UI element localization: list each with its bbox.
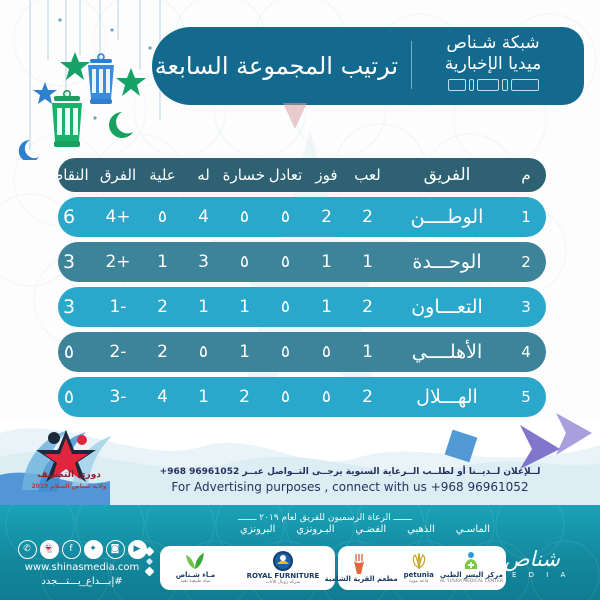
sponsor-name: مطعم القرية الشامية bbox=[325, 575, 398, 583]
social-icons: ✆ 👻 f ✦ ◙ ▶ bbox=[12, 540, 152, 559]
tier-silver: الفضـي bbox=[355, 524, 386, 535]
whatsapp-icon[interactable]: ✆ bbox=[18, 540, 37, 559]
tier-gold: الذهبي bbox=[407, 524, 435, 535]
cell-goal-diff: +2 bbox=[94, 252, 142, 272]
brand-line-2: ميديا الإخبارية bbox=[418, 54, 568, 75]
media-logo: شناص M E D I A bbox=[478, 548, 586, 580]
cell-goals-against: 4 bbox=[142, 387, 183, 407]
cell-draw: ٥ bbox=[265, 387, 306, 407]
sponsor-subtitle: شركة رويال للأثاث bbox=[266, 580, 301, 586]
column-header-played: لعب bbox=[347, 166, 388, 184]
table-row[interactable]: 1 الوطــــن 2 2 ٥ ٥ 4 ٥ +4 6 bbox=[58, 197, 546, 237]
tier-diamond: الماسـي bbox=[456, 524, 490, 535]
cell-loss: 2 bbox=[224, 387, 265, 407]
cell-played: 1 bbox=[347, 252, 388, 272]
cell-win: 2 bbox=[306, 207, 347, 227]
brand-decorative-marks bbox=[418, 79, 568, 91]
cell-goals-for: 3 bbox=[183, 252, 224, 272]
cell-team: الوطــــن bbox=[388, 206, 506, 228]
advert-english: For Advertising purposes , connect with … bbox=[150, 479, 550, 495]
column-header-loss: خسارة bbox=[224, 166, 265, 184]
cell-win: ٥ bbox=[306, 342, 347, 362]
cell-points: ٥ bbox=[44, 341, 94, 363]
poster-root: شبكة شـناص ميديا الإخبارية ترتيب المجموع… bbox=[0, 0, 600, 600]
column-header-rank: م bbox=[506, 166, 546, 184]
cell-goal-diff: -2 bbox=[94, 342, 142, 362]
cell-team: الأهلــــي bbox=[388, 341, 506, 363]
cell-points: 6 bbox=[44, 206, 94, 228]
cell-rank: 3 bbox=[506, 298, 546, 316]
cell-goal-diff: +4 bbox=[94, 207, 142, 227]
column-header-goals-against: علية bbox=[142, 166, 183, 184]
league-logo-subtitle: ولاية شناص السلام 2019 bbox=[14, 481, 124, 492]
twitter-icon[interactable]: ✦ bbox=[84, 540, 103, 559]
cell-draw: ٥ bbox=[265, 252, 306, 272]
cell-rank: 1 bbox=[506, 208, 546, 226]
column-header-win: فوز bbox=[306, 166, 347, 184]
media-logo-script: شناص bbox=[478, 548, 586, 570]
cell-points: 3 bbox=[44, 251, 94, 273]
tier-bronze-2: البرونزي bbox=[240, 524, 275, 535]
royal-furniture-icon bbox=[272, 550, 294, 572]
league-logo-title: دوري التصنيف bbox=[14, 470, 124, 481]
sponsor-name: مـاء شـناص bbox=[176, 571, 216, 579]
youtube-icon[interactable]: ▶ bbox=[128, 540, 147, 559]
sponsor-logo-maa-shinas[interactable]: مـاء شـناص مياه طبيعية نقية bbox=[173, 551, 219, 585]
header-pointer-decoration bbox=[283, 103, 307, 129]
tier-bronze: البـرونزي bbox=[296, 524, 334, 535]
cell-played: 2 bbox=[347, 387, 388, 407]
cell-win: ٥ bbox=[306, 387, 347, 407]
sponsor-tiers: الماسـي الذهبي الفضـي البـرونزي البرونزي bbox=[240, 524, 490, 535]
sponsors-title: ـــــــ الرعاة الرسميون للفريق لعام ٢٠١٩… bbox=[185, 512, 465, 524]
column-header-draw: تعادل bbox=[265, 166, 306, 184]
sponsor-pill-left: ROYAL FURNITURE شركة رويال للأثاث مـاء ش… bbox=[160, 546, 335, 590]
column-header-points: النقاط bbox=[44, 166, 94, 184]
cell-played: 2 bbox=[347, 297, 388, 317]
sponsor-subtitle: مياه طبيعية نقية bbox=[181, 579, 211, 585]
sponsor-logo-royal-furniture[interactable]: ROYAL FURNITURE شركة رويال للأثاث bbox=[244, 550, 323, 586]
cell-points: 3 bbox=[44, 296, 94, 318]
header-bar: شبكة شـناص ميديا الإخبارية ترتيب المجموع… bbox=[152, 27, 584, 105]
standings-table: م الفريق لعب فوز تعادل خسارة له علية الف… bbox=[58, 158, 546, 422]
table-row[interactable]: 2 الوحـــدة 1 1 ٥ ٥ 3 1 +2 3 bbox=[58, 242, 546, 282]
brand-line-1: شبكة شـناص bbox=[418, 33, 568, 54]
cell-goal-diff: -3 bbox=[94, 387, 142, 407]
facebook-icon[interactable]: f bbox=[62, 540, 81, 559]
media-logo-word: M E D I A bbox=[478, 570, 586, 580]
cell-rank: 2 bbox=[506, 253, 546, 271]
cell-goal-diff: -1 bbox=[94, 297, 142, 317]
hashtag-label: #إبـــداع_يـــتـــجدد bbox=[12, 575, 152, 588]
cell-loss: ٥ bbox=[224, 252, 265, 272]
cell-goals-against: 2 bbox=[142, 342, 183, 362]
diamond-separator-left bbox=[146, 548, 153, 575]
table-header-row: م الفريق لعب فوز تعادل خسارة له علية الف… bbox=[58, 158, 546, 192]
cell-loss: 1 bbox=[224, 342, 265, 362]
cell-draw: ٥ bbox=[265, 342, 306, 362]
cell-loss: 1 bbox=[224, 297, 265, 317]
cell-team: الوحـــدة bbox=[388, 251, 506, 273]
header-divider bbox=[411, 41, 412, 89]
cell-rank: 4 bbox=[506, 343, 546, 361]
table-row[interactable]: 4 الأهلــــي 1 ٥ ٥ 1 ٥ 2 -2 ٥ bbox=[58, 332, 546, 372]
cell-draw: ٥ bbox=[265, 207, 306, 227]
column-header-goal-diff: الفرق bbox=[94, 166, 142, 184]
sponsor-name: ROYAL FURNITURE bbox=[247, 572, 320, 580]
fork-icon bbox=[353, 553, 369, 575]
snapchat-icon[interactable]: 👻 bbox=[40, 540, 59, 559]
cell-rank: 5 bbox=[506, 388, 546, 406]
sponsor-name: petunia bbox=[404, 571, 434, 579]
cell-goals-for: ٥ bbox=[183, 342, 224, 362]
flower-icon bbox=[409, 551, 429, 571]
cell-goals-for: 1 bbox=[183, 297, 224, 317]
cell-team: التعـــاون bbox=[388, 296, 506, 318]
cell-goals-for: 1 bbox=[183, 387, 224, 407]
cell-played: 1 bbox=[347, 342, 388, 362]
cell-goals-for: 4 bbox=[183, 207, 224, 227]
cell-played: 2 bbox=[347, 207, 388, 227]
page-title: ترتيب المجموعة السابعة bbox=[168, 45, 398, 87]
website-link[interactable]: www.shinasmedia.com bbox=[12, 561, 152, 575]
leaf-icon bbox=[185, 551, 205, 571]
social-block: ✆ 👻 f ✦ ◙ ▶ www.shinasmedia.com #إبـــدا… bbox=[12, 540, 152, 588]
sponsor-logo-shamiya-restaurant[interactable]: مطعم القرية الشامية bbox=[322, 553, 401, 583]
instagram-icon[interactable]: ◙ bbox=[106, 540, 125, 559]
sponsor-logo-petunia[interactable]: petunia قاعة بتونيا bbox=[401, 551, 437, 585]
advertising-block: لــلإعلان لــديــنا أو لطلــب الــرعاية … bbox=[150, 466, 550, 495]
cell-win: 1 bbox=[306, 252, 347, 272]
cell-draw: ٥ bbox=[265, 297, 306, 317]
cell-win: 1 bbox=[306, 297, 347, 317]
brand-block: شبكة شـناص ميديا الإخبارية bbox=[418, 33, 568, 91]
cell-loss: ٥ bbox=[224, 207, 265, 227]
cell-goals-against: ٥ bbox=[142, 207, 183, 227]
league-logo-label: دوري التصنيف ولاية شناص السلام 2019 bbox=[14, 470, 124, 492]
sponsor-subtitle: قاعة بتونيا bbox=[409, 579, 428, 585]
column-header-team: الفريق bbox=[388, 165, 506, 185]
column-header-goals-for: له bbox=[183, 166, 224, 184]
cell-goals-against: 1 bbox=[142, 252, 183, 272]
table-row[interactable]: 3 التعـــاون 2 1 ٥ 1 1 2 -1 3 bbox=[58, 287, 546, 327]
cell-goals-against: 2 bbox=[142, 297, 183, 317]
advert-arabic: لــلإعلان لــديــنا أو لطلــب الــرعاية … bbox=[150, 466, 550, 479]
